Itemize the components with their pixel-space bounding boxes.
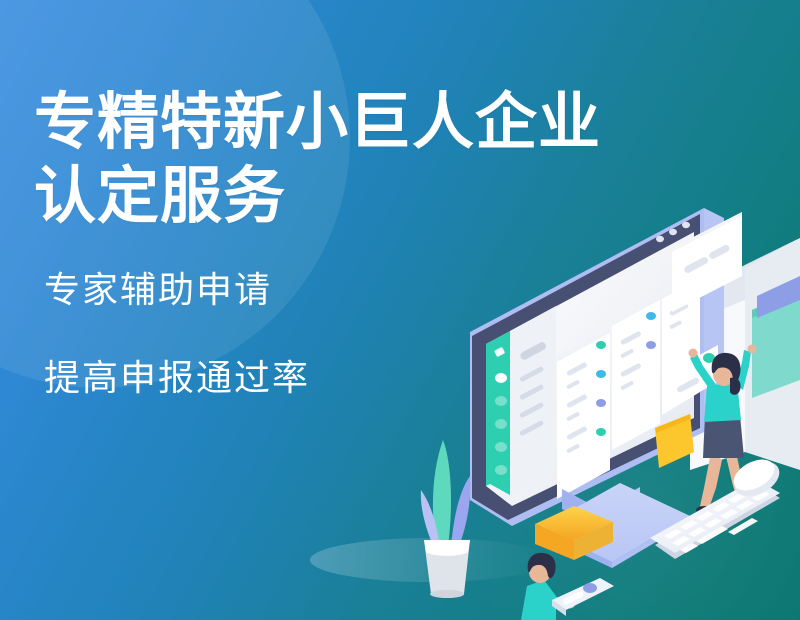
headline-line-1: 专精特新小巨人企业 bbox=[34, 86, 794, 160]
subtitle-expert-assisted-application: 专家辅助申请 bbox=[44, 268, 794, 312]
promo-banner: 专精特新小巨人企业 认定服务 专家辅助申请 提高申报通过率 bbox=[0, 0, 800, 620]
subtitle-list: 专家辅助申请 提高申报通过率 bbox=[34, 268, 794, 400]
held-tablet bbox=[552, 578, 614, 616]
banner-text-block: 专精特新小巨人企业 认定服务 专家辅助申请 提高申报通过率 bbox=[34, 86, 794, 400]
page-title: 专精特新小巨人企业 认定服务 bbox=[34, 86, 794, 234]
headline-line-2: 认定服务 bbox=[34, 160, 794, 234]
subtitle-improve-approval-rate: 提高申报通过率 bbox=[44, 356, 794, 400]
person-seated bbox=[521, 553, 614, 620]
